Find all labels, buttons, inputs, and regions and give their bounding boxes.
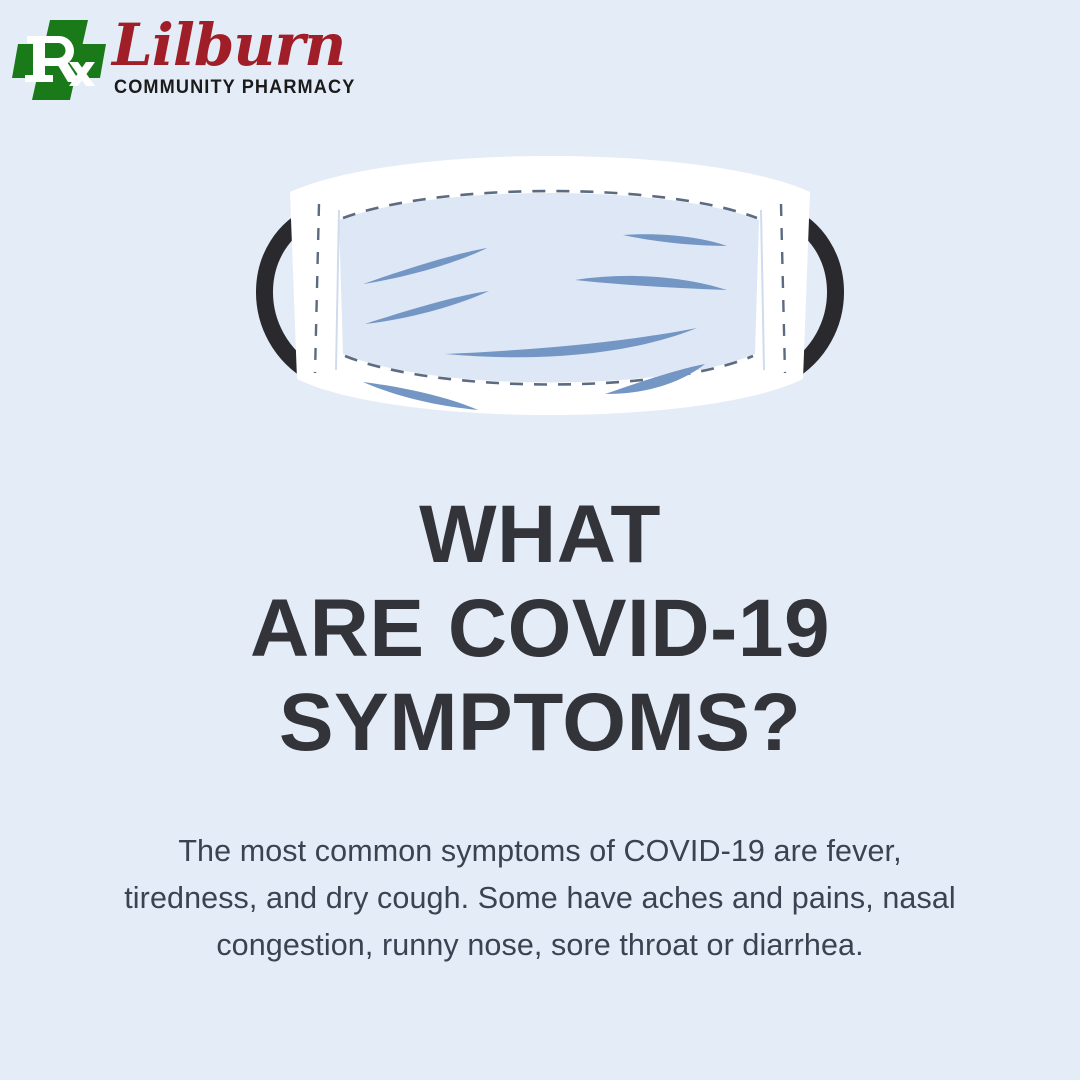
body-line-3: congestion, runny nose, sore throat or d… xyxy=(110,922,970,969)
poster-canvas: Lilburn COMMUNITY PHARMACY xyxy=(0,0,1080,1080)
headline-line-2: ARE COVID-19 xyxy=(0,582,1080,676)
face-mask-illustration xyxy=(235,92,865,432)
logo-wordmark: Lilburn COMMUNITY PHARMACY xyxy=(112,14,362,104)
headline-line-3: SYMPTOMS? xyxy=(0,676,1080,770)
rx-green-cross-icon xyxy=(6,18,114,102)
body-line-2: tiredness, and dry cough. Some have ache… xyxy=(110,875,970,922)
brand-name: Lilburn xyxy=(112,16,362,76)
body-line-1: The most common symptoms of COVID-19 are… xyxy=(110,828,970,875)
body-paragraph: The most common symptoms of COVID-19 are… xyxy=(110,828,970,969)
headline-line-1: WHAT xyxy=(0,488,1080,582)
page-title: WHAT ARE COVID-19 SYMPTOMS? xyxy=(0,488,1080,770)
